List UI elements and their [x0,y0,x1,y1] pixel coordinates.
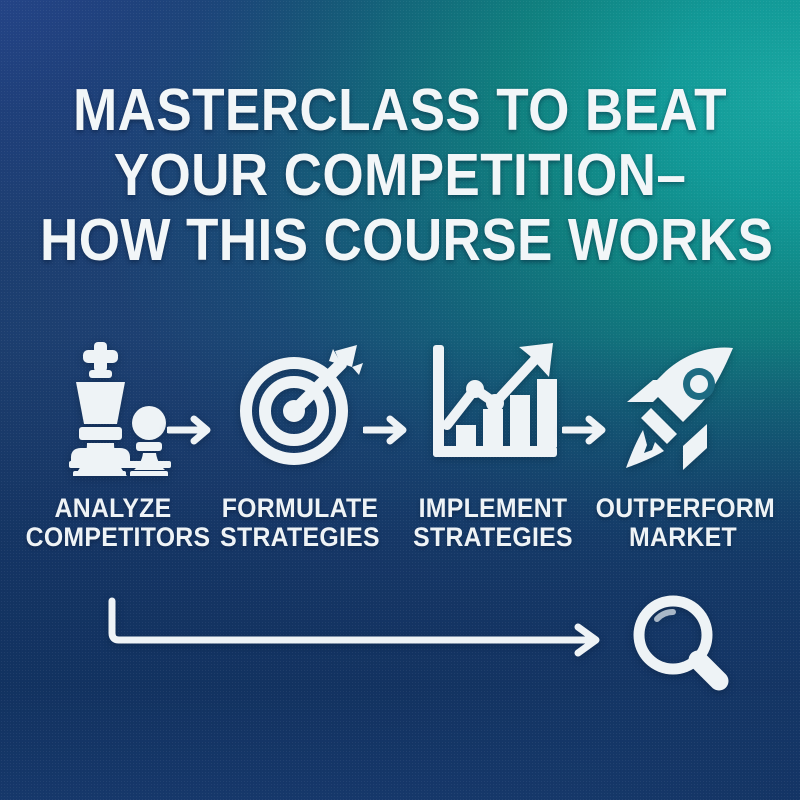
title-line-3: HOW THIS COURSE WORKS [40,208,760,273]
step-arrow-1 [167,413,213,447]
step-label-line-2: STRATEGIES [406,523,581,552]
elbow-arrow-right-icon [0,575,640,685]
step-arrow-2 [363,413,409,447]
target-arrow-icon [205,330,395,480]
bottom-flow-row [0,575,800,710]
step-label-analyze-competitors: ANALYZE COMPETITORS [26,494,201,552]
step-label-line-1: IMPLEMENT [419,493,568,523]
step-label-line-2: STRATEGIES [213,523,388,552]
step-label-outperform-market: OUTPERFORM MARKET [596,494,771,552]
step-label-line-2: COMPETITORS [26,523,201,552]
poster-canvas: MASTERCLASS TO BEAT YOUR COMPETITION– HO… [0,0,800,800]
step-label-formulate-strategies: FORMULATE STRATEGIES [213,494,388,552]
growth-bar-chart-icon [398,330,588,480]
rocket-icon [588,330,778,480]
step-outperform-market: OUTPERFORM MARKET [588,330,778,552]
step-label-line-2: MARKET [596,523,771,552]
step-implement-strategies: IMPLEMENT STRATEGIES [398,330,588,552]
process-steps-row: ANALYZE COMPETITORS FOR [0,330,800,580]
title-line-2: YOUR COMPETITION– [40,143,760,208]
page-title: MASTERCLASS TO BEAT YOUR COMPETITION– HO… [0,78,800,273]
step-label-implement-strategies: IMPLEMENT STRATEGIES [406,494,581,552]
step-label-line-1: OUTPERFORM [596,493,775,523]
title-line-1: MASTERCLASS TO BEAT [40,78,760,143]
step-label-line-1: FORMULATE [222,493,379,523]
magnifying-glass-icon [625,587,735,697]
step-arrow-3 [562,413,608,447]
step-label-line-1: ANALYZE [55,493,172,523]
chess-pieces-icon [18,330,208,480]
